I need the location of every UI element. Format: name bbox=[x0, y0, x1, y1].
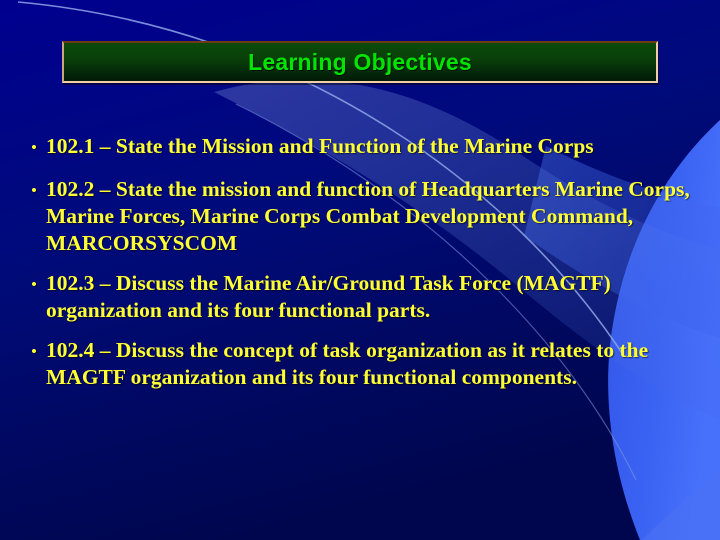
bullet-dot-icon: • bbox=[22, 337, 46, 367]
list-item: • 102.3 – Discuss the Marine Air/Ground … bbox=[22, 270, 702, 324]
objective-text-102-1: 102.1 – State the Mission and Function o… bbox=[46, 133, 701, 160]
presentation-slide: Learning Objectives • 102.1 – State the … bbox=[0, 0, 720, 540]
page-title: Learning Objectives bbox=[248, 49, 472, 76]
objective-text-102-4: 102.4 – Discuss the concept of task orga… bbox=[46, 337, 686, 391]
list-item: • 102.2 – State the mission and function… bbox=[22, 176, 702, 257]
objectives-list: • 102.1 – State the Mission and Function… bbox=[22, 133, 702, 404]
list-item: • 102.4 – Discuss the concept of task or… bbox=[22, 337, 702, 391]
objective-text-102-2: 102.2 – State the mission and function o… bbox=[46, 176, 702, 257]
bullet-dot-icon: • bbox=[22, 176, 46, 206]
bullet-dot-icon: • bbox=[22, 133, 46, 163]
title-banner: Learning Objectives bbox=[62, 41, 658, 83]
list-item: • 102.1 – State the Mission and Function… bbox=[22, 133, 702, 163]
objective-text-102-3: 102.3 – Discuss the Marine Air/Ground Ta… bbox=[46, 270, 702, 324]
bullet-dot-icon: • bbox=[22, 270, 46, 300]
